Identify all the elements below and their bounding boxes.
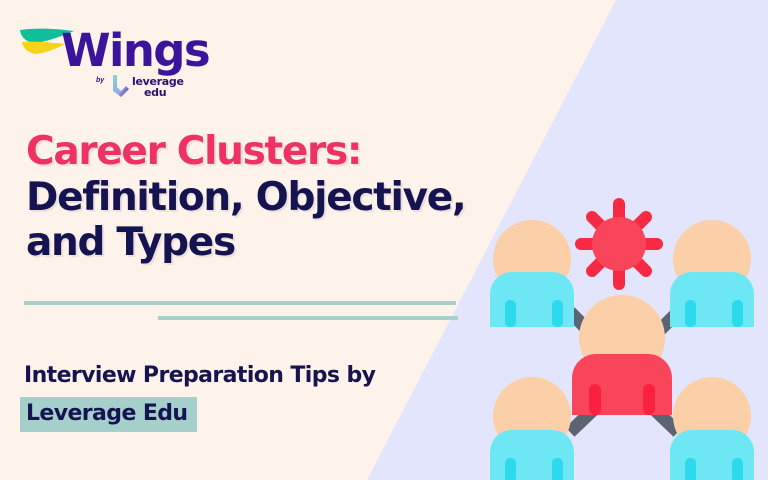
person-bottom-right: [670, 377, 754, 480]
divider-line-bottom: [158, 316, 458, 320]
leverage-line2: edu: [132, 87, 184, 98]
divider-line-top: [24, 301, 456, 305]
person-top-right: [670, 220, 754, 327]
subtitle-highlight: Leverage Edu: [20, 397, 197, 432]
people-network-illustration: [462, 190, 768, 480]
person-center: [572, 295, 672, 415]
title-line-2: Definition, Objective,: [26, 175, 496, 221]
logo-wordmark: Wings: [61, 28, 209, 73]
poster-canvas: Wings by leverage edu Career Clusters: D…: [0, 0, 768, 480]
title-line-1: Career Clusters:: [26, 129, 496, 175]
page-title: Career Clusters: Definition, Objective, …: [26, 129, 496, 266]
leverage-edu-wordmark: leverage edu: [132, 76, 184, 98]
leverage-check-icon: [110, 73, 132, 99]
wings-logo[interactable]: Wings by leverage edu: [18, 22, 198, 102]
subtitle-line: Interview Preparation Tips by: [24, 362, 375, 391]
title-line-3: and Types: [26, 220, 496, 266]
person-bottom-left: [490, 377, 574, 480]
person-top-left: [490, 220, 574, 327]
sun-gear-icon: [581, 204, 657, 284]
logo-by-label: by: [96, 77, 104, 84]
